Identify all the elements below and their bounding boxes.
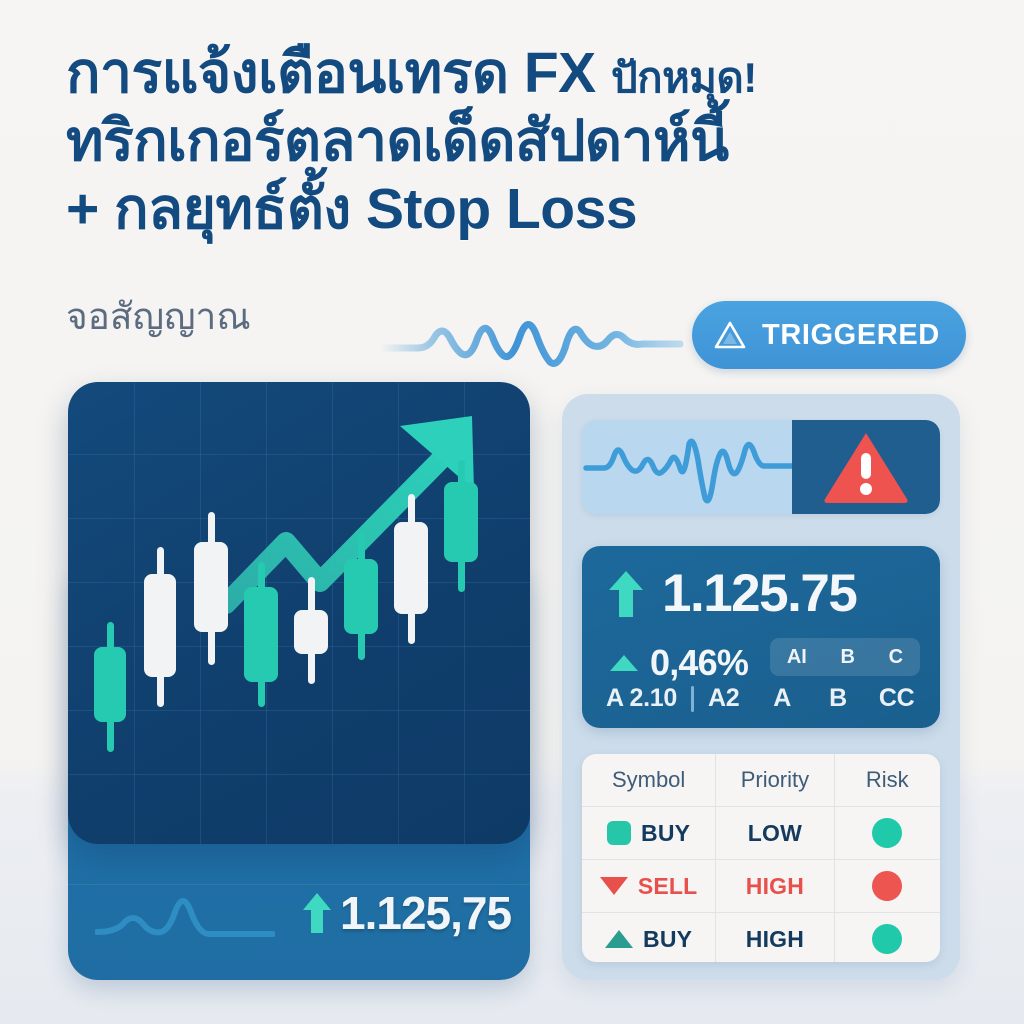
row-priority: HIGH [746, 873, 804, 900]
alert-icon-panel [792, 420, 940, 514]
headline-line-1: การแจ้งเตือนเทรด FX ปักหมุด! [66, 44, 986, 102]
ecg-waveform-icon [582, 420, 812, 514]
subtitle: จอสัญญาณ [66, 297, 251, 338]
page-title: การแจ้งเตือนเทรด FX ปักหมุด! ทริกเกอร์ตล… [66, 44, 986, 238]
triggered-badge-label: TRIGGERED [762, 319, 940, 352]
candle-7 [394, 382, 428, 844]
triangle-up-icon [608, 652, 640, 674]
row-symbol: BUY [643, 926, 692, 953]
warning-triangle-icon [714, 320, 746, 350]
price-value: 1.125.75 [662, 567, 856, 620]
signal-squiggle-icon [380, 296, 710, 380]
triangle-up-icon [605, 930, 633, 948]
candlestick-chart-card [68, 382, 530, 844]
alert-waveform-card [582, 420, 940, 514]
candle-8 [444, 382, 478, 844]
price-chip-group: AI B C [770, 638, 920, 676]
risk-dot-icon [872, 818, 902, 848]
price-card: 1.125.75 0,46% AI B C A 2.10 A2 A B CC [582, 546, 940, 728]
price-tag-3: CC [879, 684, 915, 713]
price-change-row: 0,46% [608, 642, 748, 684]
candle-1 [94, 382, 126, 844]
column-header-priority: Priority [741, 767, 809, 793]
row-priority: LOW [748, 820, 802, 847]
price-chip-0[interactable]: AI [787, 646, 807, 669]
table-header-row: Symbol Priority Risk [582, 754, 940, 807]
table-row[interactable]: SELL HIGH [582, 860, 940, 913]
risk-dot-icon [872, 871, 902, 901]
tag-divider [691, 686, 694, 712]
headline-line-3: + กลยุทธ์ตั้ง Stop Loss [66, 180, 986, 238]
red-warning-triangle-icon [822, 429, 910, 505]
candle-2 [144, 382, 176, 844]
price-tag-1: A [773, 684, 791, 713]
price-chip-2[interactable]: C [889, 646, 903, 669]
price-tag-0: A2 [708, 684, 739, 713]
column-header-symbol: Symbol [612, 767, 685, 793]
candle-6 [344, 382, 378, 844]
candle-3 [194, 382, 228, 844]
square-icon [607, 821, 631, 845]
price-main-row: 1.125.75 [606, 567, 856, 620]
risk-dot-icon [872, 924, 902, 954]
row-symbol: SELL [638, 873, 698, 900]
price-tag-left: A 2.10 [606, 684, 677, 713]
triangle-down-icon [600, 877, 628, 895]
price-tag-row: A 2.10 A2 A B CC [606, 684, 921, 713]
row-symbol: BUY [641, 820, 690, 847]
headline-line-1-accent: ปักหมุด! [611, 54, 757, 101]
price-chip-1[interactable]: B [841, 646, 855, 669]
column-header-risk: Risk [866, 767, 909, 793]
footer-sparkline-icon [95, 886, 275, 948]
price-change-value: 0,46% [650, 642, 748, 684]
candle-5 [294, 382, 328, 844]
chart-footer-price-value: 1.125,75 [340, 886, 511, 940]
table-row[interactable]: BUY LOW [582, 807, 940, 860]
signals-table: Symbol Priority Risk BUY LOW SELL HIGH B… [582, 754, 940, 962]
chart-footer-price: 1.125,75 [300, 886, 511, 940]
poster-canvas: การแจ้งเตือนเทรด FX ปักหมุด! ทริกเกอร์ตล… [0, 0, 1024, 1024]
up-arrow-icon [606, 568, 646, 620]
price-tag-2: B [829, 684, 847, 713]
row-priority: HIGH [746, 926, 804, 953]
triggered-badge[interactable]: TRIGGERED [692, 301, 966, 369]
headline-line-2: ทริกเกอร์ตลาดเด็ดสัปดาห์นี้ [66, 112, 986, 170]
up-arrow-icon [300, 889, 334, 937]
candle-4 [244, 382, 278, 844]
table-row[interactable]: BUY HIGH [582, 913, 940, 962]
headline-line-1-main: การแจ้งเตือนเทรด FX [66, 41, 611, 105]
